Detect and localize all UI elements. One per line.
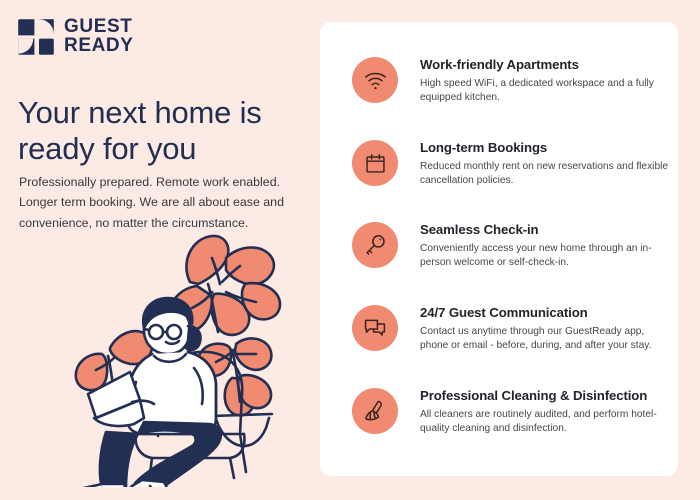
feature-title: Long-term Bookings — [420, 140, 672, 157]
feature-text: 24/7 Guest Communication Contact us anyt… — [420, 305, 672, 353]
guestready-quadrant-logo-icon — [17, 18, 55, 56]
brand-logo[interactable]: GUEST READY — [17, 18, 134, 56]
chat-bubbles-icon — [352, 305, 398, 351]
broom-icon — [352, 388, 398, 434]
marketing-page: GUEST READY Your next home is ready for … — [0, 0, 700, 500]
feature-text: Work-friendly Apartments High speed WiFi… — [420, 57, 672, 105]
feature-text: Professional Cleaning & Disinfection All… — [420, 388, 672, 436]
feature-item[interactable]: Professional Cleaning & Disinfection All… — [352, 388, 652, 436]
feature-title: 24/7 Guest Communication — [420, 305, 672, 322]
calendar-icon — [352, 140, 398, 186]
key-icon — [352, 222, 398, 268]
feature-item[interactable]: Long-term Bookings Reduced monthly rent … — [352, 140, 652, 188]
feature-text: Long-term Bookings Reduced monthly rent … — [420, 140, 672, 188]
feature-item[interactable]: Seamless Check-in Conveniently access yo… — [352, 222, 652, 270]
feature-description: Contact us anytime through our GuestRead… — [420, 325, 672, 354]
feature-text: Seamless Check-in Conveniently access yo… — [420, 222, 672, 270]
feature-title: Professional Cleaning & Disinfection — [420, 388, 672, 405]
brand-wordmark: GUEST READY — [64, 18, 134, 55]
feature-title: Seamless Check-in — [420, 222, 672, 239]
wifi-icon — [352, 57, 398, 103]
feature-description: Conveniently access your new home throug… — [420, 242, 672, 271]
feature-description: High speed WiFi, a dedicated workspace a… — [420, 77, 672, 106]
feature-title: Work-friendly Apartments — [420, 57, 672, 74]
hero-column: GUEST READY Your next home is ready for … — [0, 0, 320, 500]
features-card: Work-friendly Apartments High speed WiFi… — [320, 22, 678, 476]
hero-illustration — [40, 222, 315, 487]
feature-description: Reduced monthly rent on new reservations… — [420, 160, 672, 189]
feature-item[interactable]: 24/7 Guest Communication Contact us anyt… — [352, 305, 652, 353]
brand-line-2: READY — [64, 37, 134, 56]
page-title: Your next home is ready for you — [18, 95, 303, 168]
feature-item[interactable]: Work-friendly Apartments High speed WiFi… — [352, 57, 652, 105]
feature-description: All cleaners are routinely audited, and … — [420, 408, 672, 437]
